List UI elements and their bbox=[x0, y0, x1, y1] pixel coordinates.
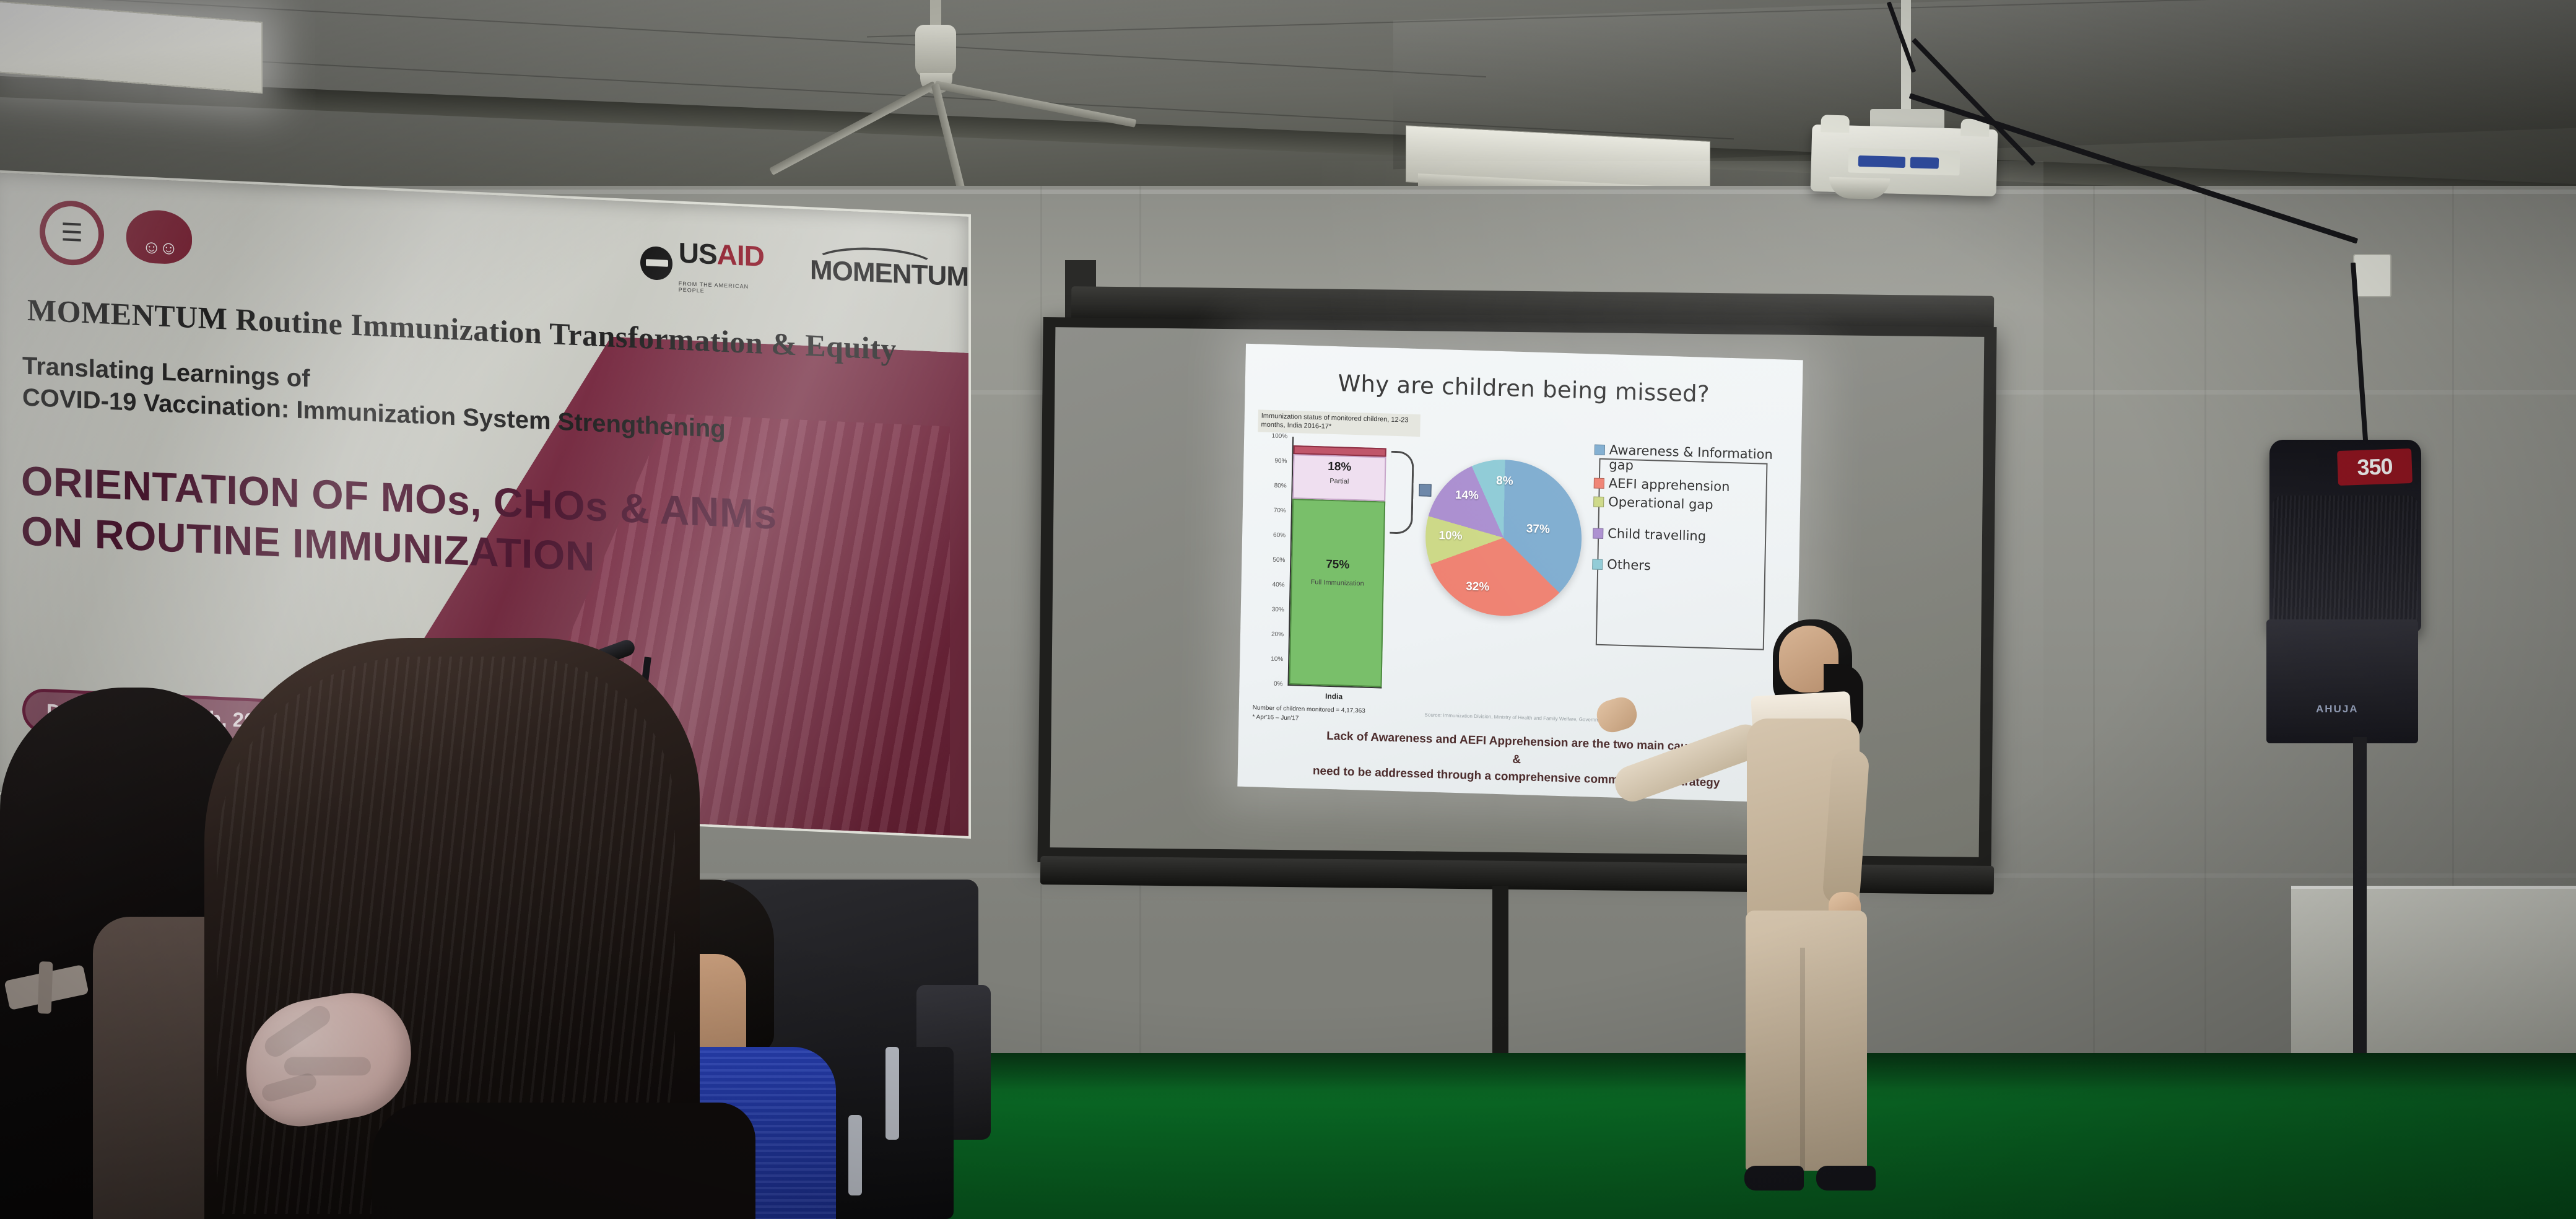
pa-speaker-lower-body bbox=[2266, 619, 2418, 743]
ytick-60: 60% bbox=[1273, 532, 1286, 540]
bar-segment-full: 75% Full Immunization bbox=[1289, 499, 1385, 687]
bar-chart: Immunization status of monitored childre… bbox=[1252, 409, 1425, 736]
ytick-100: 100% bbox=[1271, 433, 1287, 440]
government-emblem-icon: ☰ bbox=[40, 199, 104, 267]
bar-chart-plot: 75% Full Immunization 18% Partial bbox=[1287, 437, 1386, 688]
pa-speaker-brand-mark: AHUJA bbox=[2316, 703, 2359, 715]
wainscot-trim bbox=[2291, 886, 2576, 889]
banner-partner-logos: USAID FROM THE AMERICAN PEOPLE MOMENTUM bbox=[640, 234, 968, 306]
chair-rail-right bbox=[885, 1047, 899, 1140]
ytick-10: 10% bbox=[1271, 656, 1283, 663]
audience-member-center-shoulder bbox=[372, 1103, 755, 1219]
pa-speaker-model-badge: 350 bbox=[2337, 448, 2413, 486]
ytick-80: 80% bbox=[1274, 483, 1287, 490]
presenter-shoe-right bbox=[1816, 1166, 1876, 1191]
legend-item-awareness: Awareness & Information gap bbox=[1594, 442, 1774, 477]
ytick-40: 40% bbox=[1272, 582, 1284, 589]
ytick-0: 0% bbox=[1274, 681, 1283, 688]
usaid-logo: USAID FROM THE AMERICAN PEOPLE bbox=[640, 234, 773, 297]
pie-chart: 37% 32% 10% 14% 8% bbox=[1424, 457, 1583, 618]
pa-speaker-model-text: 350 bbox=[2357, 453, 2393, 481]
banner-left-logos: ☰ ☺☺ bbox=[40, 199, 192, 271]
legend-label-awareness: Awareness & Information gap bbox=[1609, 442, 1774, 477]
chair-rail-left bbox=[848, 1115, 862, 1195]
usaid-tagline: FROM THE AMERICAN PEOPLE bbox=[679, 281, 773, 297]
pie-label-operational: 10% bbox=[1438, 529, 1462, 543]
usaid-wordmark: USAID bbox=[679, 236, 773, 274]
national-health-mission-emblem-icon: ☺☺ bbox=[126, 209, 192, 265]
projector-vga-port-2 bbox=[1910, 157, 1939, 168]
usaid-wordmark-red: AID bbox=[717, 238, 764, 272]
pie-label-aefi: 32% bbox=[1466, 580, 1489, 594]
ceiling-fan bbox=[867, 0, 1016, 136]
presenter-shoe-left bbox=[1744, 1166, 1804, 1191]
pie-label-others: 8% bbox=[1496, 474, 1513, 489]
legend-label-travelling: Child travelling bbox=[1608, 526, 1706, 544]
legend-swatch-awareness-icon bbox=[1595, 444, 1605, 455]
legend-swatch-operational-icon bbox=[1593, 497, 1604, 508]
banner-org-line: MOMENTUM Routine Immunization Transforma… bbox=[27, 292, 897, 367]
legend-swatch-aefi-icon bbox=[1594, 478, 1604, 489]
legend-label-operational: Operational gap bbox=[1608, 495, 1713, 513]
ytick-90: 90% bbox=[1274, 458, 1287, 465]
bar-sublabel-full: Full Immunization bbox=[1292, 578, 1383, 589]
ytick-50: 50% bbox=[1273, 557, 1285, 564]
bar-label-partial: 18% bbox=[1294, 459, 1385, 475]
legend-swatch-others-icon bbox=[1592, 559, 1603, 570]
slide-title: Why are children being missed? bbox=[1245, 367, 1802, 411]
bar-segment-partial: 18% Partial bbox=[1292, 454, 1386, 501]
legend-swatch-travelling-icon bbox=[1593, 528, 1603, 539]
ytick-70: 70% bbox=[1274, 507, 1286, 515]
momentum-logo: MOMENTUM bbox=[810, 255, 968, 293]
projector-vga-port bbox=[1858, 155, 1905, 168]
usaid-seal-icon bbox=[640, 246, 672, 281]
ytick-30: 30% bbox=[1272, 606, 1284, 614]
bar-chart-footnotes: Number of children monitored = 4,17,363 … bbox=[1252, 703, 1365, 725]
ytick-20: 20% bbox=[1271, 631, 1284, 639]
presenter bbox=[1706, 626, 1910, 1208]
legend-label-others: Others bbox=[1607, 557, 1651, 573]
bar-chart-x-label: India bbox=[1287, 691, 1380, 702]
bar-chart-y-axis: 100% 90% 80% 70% 60% 50% 40% 30% 20% 10%… bbox=[1253, 435, 1290, 684]
wall-wainscot bbox=[2291, 886, 2576, 1072]
ceiling-projector bbox=[1811, 125, 1998, 196]
bar-sublabel-partial: Partial bbox=[1294, 476, 1385, 487]
slide-source-note: Source: Immunization Division, Ministry … bbox=[1424, 712, 1624, 724]
pie-label-travelling: 14% bbox=[1455, 489, 1479, 503]
pie-chart-legend: Awareness & Information gap AEFI apprehe… bbox=[1592, 442, 1774, 580]
wall-power-socket bbox=[2353, 254, 2391, 297]
ceiling bbox=[0, 0, 2576, 204]
pie-label-awareness: 37% bbox=[1526, 522, 1550, 536]
bar-label-full: 75% bbox=[1292, 557, 1383, 573]
conference-room-photo: ☰ ☺☺ USAID FROM THE AMERICAN PEOPLE MOME… bbox=[0, 0, 2576, 1219]
presenter-trousers bbox=[1746, 911, 1867, 1171]
bar-chart-brace-icon bbox=[1390, 451, 1414, 535]
